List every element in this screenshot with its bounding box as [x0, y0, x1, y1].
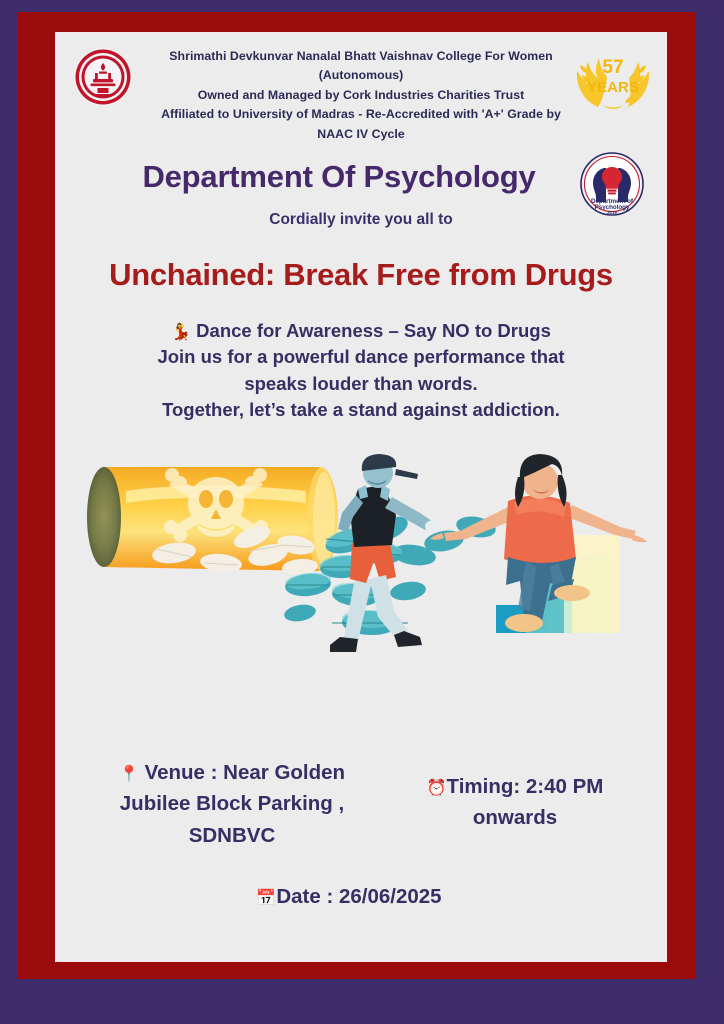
location-pin-icon: 📍 — [119, 764, 139, 783]
venue-line-3: SDNBVC — [92, 820, 372, 851]
event-title: Unchained: Break Free from Drugs — [56, 257, 666, 293]
event-description: 💃 Dance for Awareness – Say NO to Drugs … — [56, 318, 666, 423]
poster-header: Shrimathi Devkunvar Nanalal Bhatt Vaishn… — [56, 33, 666, 148]
venue-block: 📍 Venue : Near Golden Jubilee Block Park… — [82, 757, 372, 850]
psychology-department-logo-icon: Department of Psychology 2019 — [580, 152, 644, 216]
psy-logo-year: 2019 — [607, 210, 617, 215]
header-line-5: NAAC IV Cycle — [120, 125, 602, 144]
venue-line-1: 📍 Venue : Near Golden — [92, 757, 372, 788]
timing-line-1: ⏰Timing: 2:40 PM — [390, 771, 640, 802]
calendar-icon: 📅 — [256, 888, 276, 907]
years-label: YEARS — [587, 79, 639, 96]
timing-block: ⏰Timing: 2:40 PM onwards — [390, 771, 640, 833]
poster-panel: Shrimathi Devkunvar Nanalal Bhatt Vaishn… — [55, 32, 667, 962]
date-text: Date : 26/06/2025 — [276, 885, 441, 908]
description-line-2: Join us for a powerful dance performance… — [56, 344, 666, 370]
alarm-clock-icon: ⏰ — [427, 778, 447, 797]
date-block: 📅Date : 26/06/2025 — [82, 885, 640, 909]
college-emblem-icon — [73, 47, 133, 107]
years-number: 57 — [602, 57, 623, 78]
details-columns: 📍 Venue : Near Golden Jubilee Block Park… — [82, 757, 640, 850]
timing-line-2: onwards — [390, 802, 640, 833]
dancer-icon: 💃 — [171, 322, 191, 341]
invite-line: Cordially invite you all to — [56, 211, 666, 229]
header-line-1: Shrimathi Devkunvar Nanalal Bhatt Vaishn… — [120, 47, 602, 66]
timing-text-1: Timing: 2:40 PM — [447, 775, 604, 798]
header-line-3: Owned and Managed by Cork Industries Cha… — [120, 86, 602, 105]
header-line-4: Affiliated to University of Madras - Re-… — [120, 105, 602, 124]
anniversary-laurel-badge-icon: 57 YEARS — [568, 41, 658, 115]
description-line-3: speaks louder than words. — [56, 371, 666, 397]
college-name-block: Shrimathi Devkunvar Nanalal Bhatt Vaishn… — [120, 47, 602, 144]
illustration-artwork — [56, 445, 667, 665]
venue-line-2: Jubilee Block Parking , — [92, 788, 372, 819]
description-line-4: Together, let’s take a stand against add… — [56, 397, 666, 423]
event-details: 📍 Venue : Near Golden Jubilee Block Park… — [56, 757, 666, 908]
page-title: Department Of Psychology — [56, 160, 666, 194]
description-line-1: 💃 Dance for Awareness – Say NO to Drugs — [56, 318, 666, 344]
header-line-2: (Autonomous) — [120, 66, 602, 85]
description-text-1: Dance for Awareness – Say NO to Drugs — [196, 320, 551, 341]
department-title-row: Department Of Psychology Department of P… — [56, 160, 666, 194]
pill-bottle — [87, 467, 338, 577]
poster-root: Shrimathi Devkunvar Nanalal Bhatt Vaishn… — [0, 0, 724, 1024]
venue-text-1: Venue : Near Golden — [145, 761, 346, 784]
